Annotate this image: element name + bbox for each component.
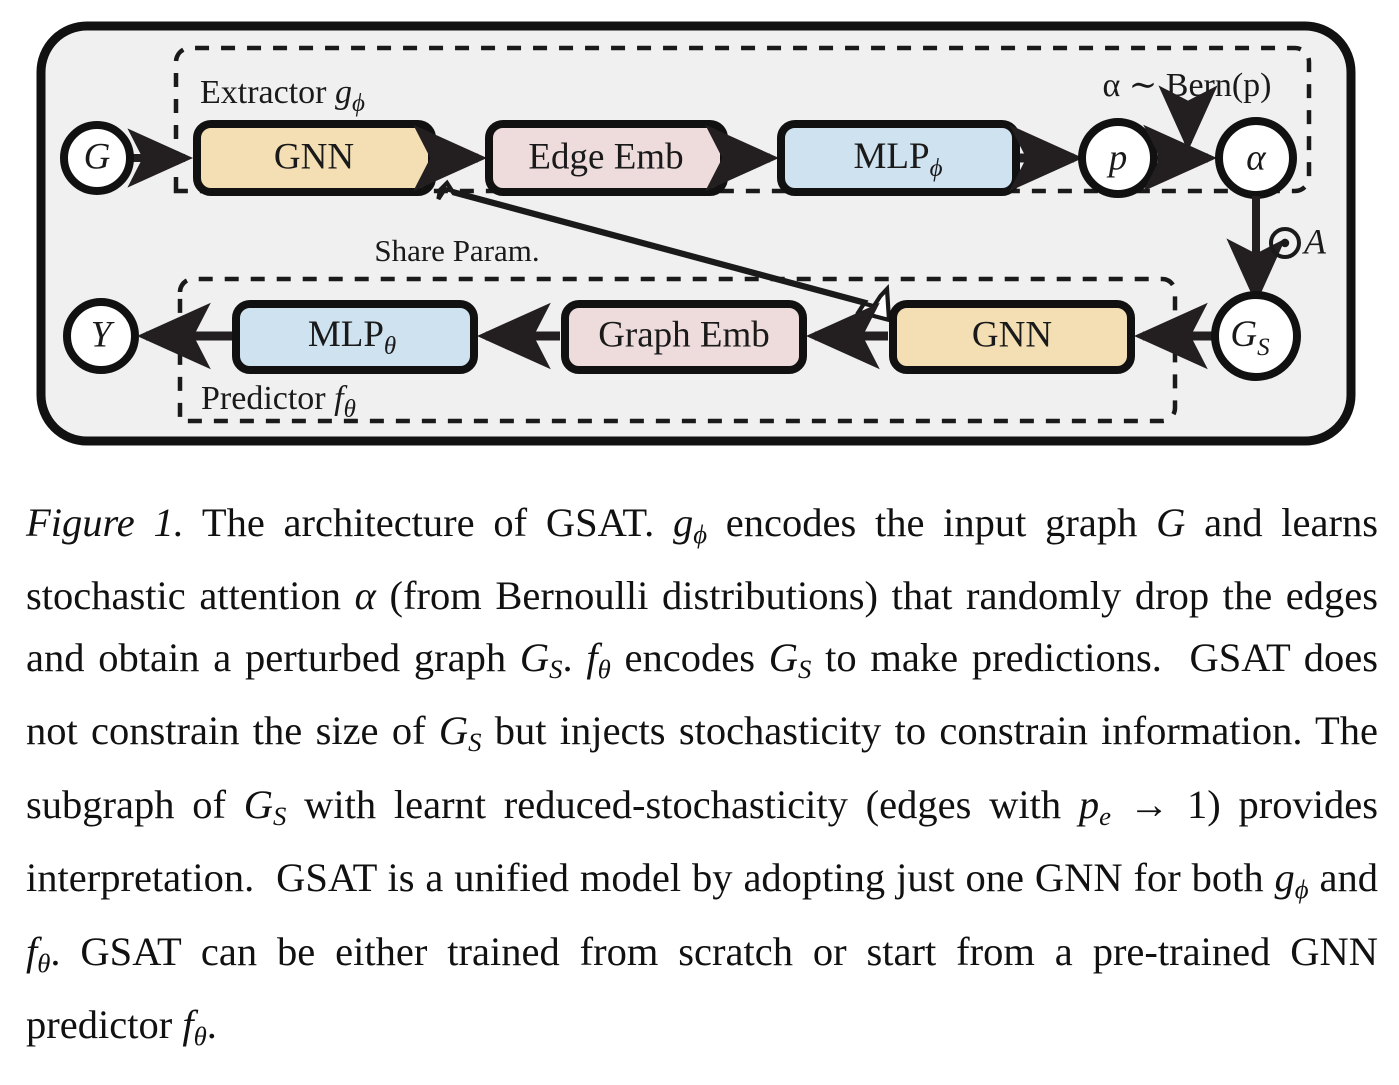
figure-caption: Figure 1. The architecture of GSAT. gϕ e… [26, 492, 1378, 1068]
svg-text:MLPθ: MLPθ [308, 314, 396, 359]
box-graph-emb-label: Graph Emb [598, 314, 770, 355]
extractor-group-label: Extractor [200, 74, 327, 111]
predictor-group-label: Predictor [201, 380, 326, 417]
svg-text:Extractor gϕ: Extractor gϕ [200, 74, 365, 117]
predictor-group-subscript: θ [344, 396, 356, 423]
node-subgraph-gs-label: G [1230, 314, 1257, 355]
box-graph-emb: Graph Emb [565, 304, 803, 370]
figure-caption-text: The architecture of GSAT. gϕ encodes the… [26, 500, 1378, 1047]
node-alpha-label: α [1246, 137, 1267, 178]
mask-matrix-label: A [1302, 221, 1327, 261]
node-input-graph-label: G [84, 136, 111, 177]
box-gnn-predictor-label: GNN [972, 314, 1052, 355]
diagram-canvas: G GNN Edge Emb MLPϕ [0, 0, 1399, 470]
box-edge-emb-label: Edge Emb [528, 136, 683, 177]
node-output-y: Y [67, 302, 135, 370]
node-subgraph-gs: GS [1215, 295, 1297, 377]
box-mlp-phi-label: MLP [853, 136, 929, 177]
box-mlp-phi: MLPϕ [781, 124, 1016, 192]
node-p-label: p [1106, 137, 1128, 178]
node-output-y-label: Y [91, 314, 115, 355]
share-param-label: Share Param. [374, 233, 539, 268]
box-edge-emb: Edge Emb [489, 124, 724, 192]
svg-text:Predictor fθ: Predictor fθ [201, 380, 356, 423]
gsat-architecture-diagram: G GNN Edge Emb MLPϕ [0, 0, 1399, 470]
node-subgraph-gs-subscript: S [1257, 334, 1270, 361]
node-p: p [1082, 122, 1154, 194]
bernoulli-annotation: α ∼ Bern(p) [1102, 67, 1271, 104]
box-mlp-theta-label: MLP [308, 314, 384, 355]
figure-caption-label: Figure 1. [26, 500, 184, 545]
node-input-graph: G [64, 125, 130, 191]
node-alpha: α [1219, 121, 1293, 195]
box-mlp-theta: MLPθ [236, 304, 474, 370]
figure-1: G GNN Edge Emb MLPϕ [0, 0, 1399, 1085]
box-mlp-theta-subscript: θ [384, 333, 396, 360]
box-gnn-predictor: GNN [893, 304, 1131, 370]
svg-text:MLPϕ: MLPϕ [853, 136, 942, 181]
box-gnn-extractor: GNN [197, 124, 432, 192]
extractor-group-subscript: ϕ [352, 90, 365, 117]
box-mlp-phi-subscript: ϕ [930, 155, 943, 182]
extractor-group-symbol: g [335, 74, 352, 111]
box-gnn-extractor-label: GNN [274, 136, 354, 177]
